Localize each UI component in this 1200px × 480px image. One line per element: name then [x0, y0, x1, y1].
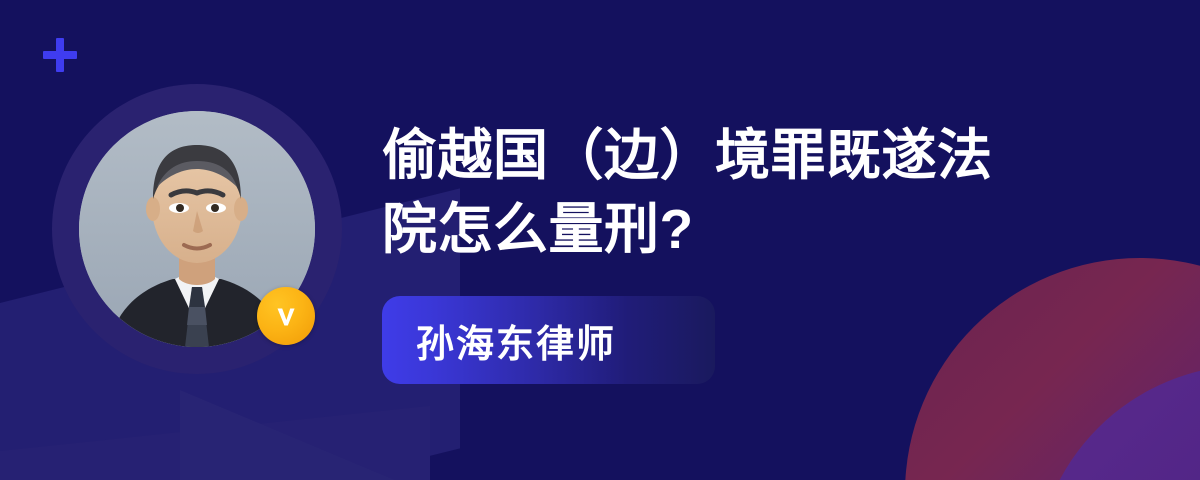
headline-block: 偷越国（边）境罪既遂法 院怎么量刑?	[382, 118, 1082, 266]
plus-icon	[43, 38, 77, 72]
author-name-label: 孙海东律师	[382, 313, 616, 368]
avatar	[52, 84, 342, 374]
verified-v-icon	[257, 287, 315, 345]
lawyer-question-banner: 偷越国（边）境罪既遂法 院怎么量刑? 孙海东律师	[0, 0, 1200, 480]
page-title: 偷越国（边）境罪既遂法 院怎么量刑?	[382, 118, 1082, 266]
author-name-badge[interactable]: 孙海东律师	[382, 296, 715, 384]
